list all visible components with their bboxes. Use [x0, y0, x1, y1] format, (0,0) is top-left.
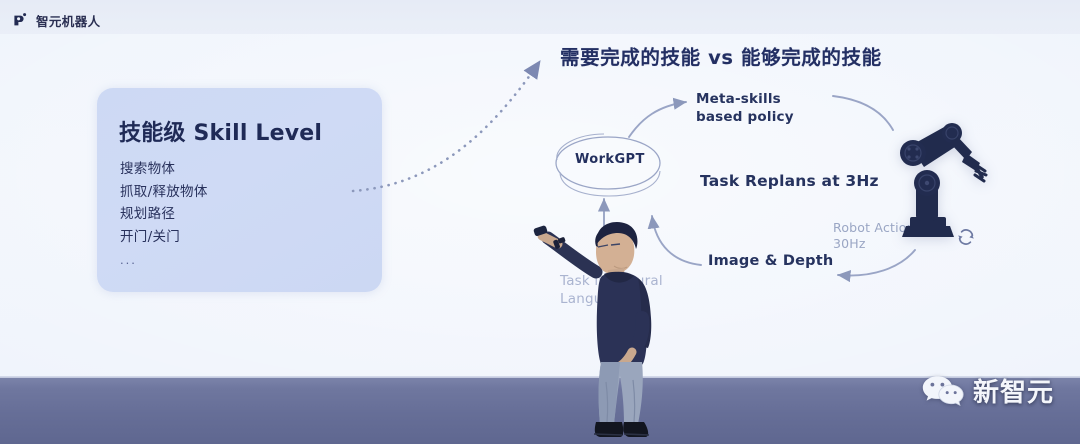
skill-item: 抓取/释放物体	[120, 181, 370, 204]
skill-level-card: 技能级 Skill Level 搜索物体 抓取/释放物体 规划路径 开门/关门 …	[97, 88, 382, 292]
brand-name: 智元机器人	[36, 11, 101, 30]
node-label-workgpt: WorkGPT	[575, 152, 645, 167]
speaker-head	[595, 222, 637, 274]
speaker-jeans	[599, 362, 643, 424]
slide-headline: 需要完成的技能 vs 能够完成的技能	[560, 41, 882, 70]
watermark: 新智元	[921, 372, 1054, 409]
speaker-figure	[528, 214, 678, 444]
presentation-screenshot: 智元机器人 技能级 Skill Level 搜索物体 抓取/释放物体 规划路径 …	[0, 0, 1080, 444]
watermark-text: 新智元	[973, 372, 1054, 409]
skill-card-title: 技能级 Skill Level	[119, 115, 322, 147]
wechat-icon	[921, 374, 965, 408]
agibot-logo-icon	[12, 12, 29, 29]
label-image-depth: Image & Depth	[708, 252, 833, 271]
label-meta-skills: Meta-skills based policy	[696, 90, 826, 126]
brand-logo: 智元机器人	[12, 11, 101, 30]
skill-item: 开门/关门	[120, 226, 370, 249]
skill-item-ellipsis: ...	[120, 248, 370, 267]
skill-card-list: 搜索物体 抓取/释放物体 规划路径 开门/关门 ...	[120, 158, 370, 267]
skill-item: 规划路径	[120, 203, 370, 226]
refresh-loop-icon	[955, 226, 977, 248]
speaker-shoes	[594, 422, 649, 437]
label-task-replans: Task Replans at 3Hz	[700, 172, 879, 190]
speaker-arm	[533, 225, 596, 272]
skill-item: 搜索物体	[120, 158, 370, 181]
